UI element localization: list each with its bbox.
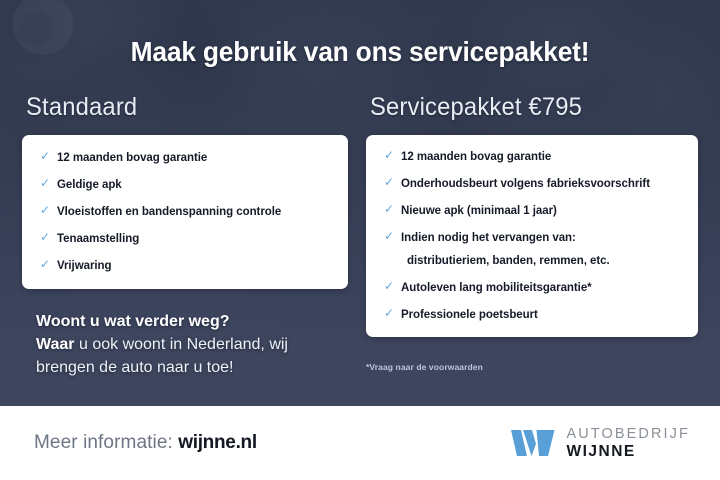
standard-features-card: ✓ 12 maanden bovag garantie ✓ Geldige ap… — [22, 135, 348, 289]
check-icon: ✓ — [384, 230, 396, 243]
check-icon: ✓ — [40, 204, 52, 217]
promo-line-2: Waar u ook woont in Nederland, wij — [36, 333, 356, 356]
list-item-label: Vrijwaring — [57, 259, 111, 273]
promo-question: Woont u wat verder weg? — [36, 310, 356, 333]
standard-feature-list: ✓ 12 maanden bovag garantie ✓ Geldige ap… — [40, 151, 332, 273]
standard-column-title: Standaard — [26, 92, 332, 122]
list-item-label: Professionele poetsbeurt — [401, 308, 538, 322]
service-features-card: ✓ 12 maanden bovag garantie ✓ Onderhouds… — [366, 135, 698, 337]
logo-wordmark: AUTOBEDRIJF WIJNNE — [566, 427, 690, 460]
list-item-label: Autoleven lang mobiliteitsgarantie* — [401, 281, 592, 295]
standard-column: Standaard ✓ 12 maanden bovag garantie ✓ … — [22, 92, 348, 289]
list-item-label: 12 maanden bovag garantie — [57, 151, 207, 165]
list-item: ✓ Indien nodig het vervangen van: distri… — [384, 231, 682, 268]
check-icon: ✓ — [40, 177, 52, 190]
check-icon: ✓ — [384, 307, 396, 320]
wijnne-logo-mark — [511, 428, 555, 458]
delivery-promo-block: Woont u wat verder weg? Waar u ook woont… — [36, 310, 356, 379]
service-column-title: Servicepakket €795 — [370, 92, 682, 122]
check-icon: ✓ — [40, 150, 52, 163]
promo-emphasis: Waar — [36, 336, 75, 353]
service-package-poster: Maak gebruik van ons servicepakket! Stan… — [0, 0, 720, 480]
list-item-label: Geldige apk — [57, 178, 122, 192]
check-icon: ✓ — [384, 176, 396, 189]
check-icon: ✓ — [384, 149, 396, 162]
list-item: ✓ Autoleven lang mobiliteitsgarantie* — [384, 281, 682, 295]
website-link[interactable]: wijnne.nl — [178, 432, 257, 453]
list-item: ✓ Geldige apk — [40, 178, 332, 192]
check-icon: ✓ — [40, 258, 52, 271]
autobedrijf-wijnne-logo: AUTOBEDRIJF WIJNNE — [511, 427, 690, 460]
list-item-label: Tenaamstelling — [57, 232, 139, 246]
page-title: Maak gebruik van ons servicepakket! — [22, 36, 699, 68]
list-item: ✓ Vrijwaring — [40, 259, 332, 273]
footer-bar: Meer informatie: wijnne.nl AUTOBEDRIJF W… — [0, 406, 720, 480]
list-item-label: Indien nodig het vervangen van: — [401, 232, 576, 244]
promo-line-2-rest: u ook woont in Nederland, wij — [75, 336, 288, 353]
promo-line-3: brengen de auto naar u toe! — [36, 356, 356, 379]
list-item-label: Onderhoudsbeurt volgens fabrieksvoorschr… — [401, 177, 650, 191]
more-information-label: Meer informatie: — [34, 432, 178, 453]
list-item: ✓ Onderhoudsbeurt volgens fabrieksvoorsc… — [384, 177, 682, 191]
check-icon: ✓ — [384, 203, 396, 216]
list-item: ✓ Nieuwe apk (minimaal 1 jaar) — [384, 204, 682, 218]
check-icon: ✓ — [384, 280, 396, 293]
logo-top-line: AUTOBEDRIJF — [566, 427, 690, 442]
list-item: ✓ 12 maanden bovag garantie — [384, 150, 682, 164]
check-icon: ✓ — [40, 231, 52, 244]
list-item: ✓ Vloeistoffen en bandenspanning control… — [40, 205, 332, 219]
service-feature-list: ✓ 12 maanden bovag garantie ✓ Onderhouds… — [384, 150, 682, 322]
list-item-label: Vloeistoffen en bandenspanning controle — [57, 205, 281, 219]
list-item: ✓ 12 maanden bovag garantie — [40, 151, 332, 165]
logo-bottom-line: WIJNNE — [566, 444, 690, 460]
service-package-column: Servicepakket €795 ✓ 12 maanden bovag ga… — [366, 92, 698, 337]
more-information-text: Meer informatie: wijnne.nl — [34, 431, 257, 455]
list-item: ✓ Tenaamstelling — [40, 232, 332, 246]
list-item-label-wrapper: Indien nodig het vervangen van: distribu… — [401, 231, 610, 268]
list-item-label: 12 maanden bovag garantie — [401, 150, 551, 164]
list-item-label-continuation: distributieriem, banden, remmen, etc. — [407, 254, 610, 268]
terms-footnote: *Vraag naar de voorwaarden — [366, 362, 483, 373]
list-item: ✓ Professionele poetsbeurt — [384, 308, 682, 322]
list-item-label: Nieuwe apk (minimaal 1 jaar) — [401, 204, 557, 218]
